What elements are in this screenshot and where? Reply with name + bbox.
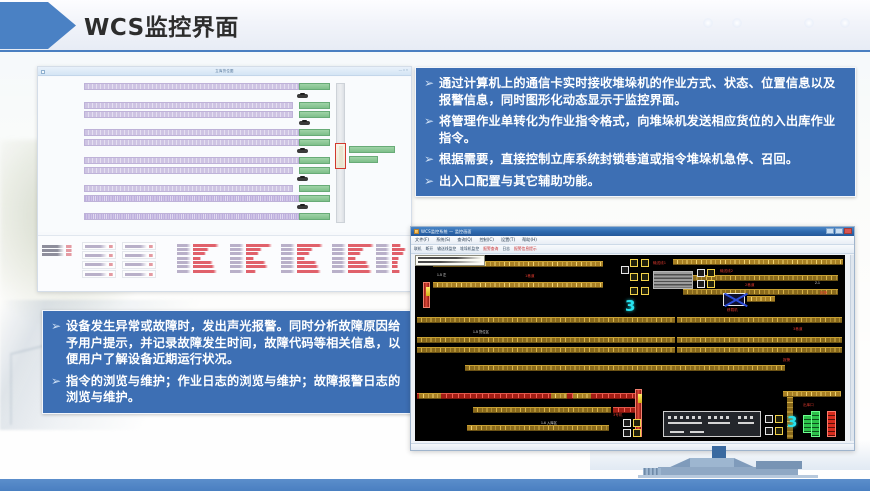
aisle-alarm — [423, 282, 430, 308]
bottom-accent-bar — [0, 479, 870, 491]
aisle-label: 1巷道 — [525, 274, 534, 279]
toolbar-button-disconnect[interactable]: 断开 — [426, 247, 434, 252]
callout-item: ➢ 出入口配置与其它辅助功能。 — [424, 173, 846, 190]
conveyor-ok-segment — [551, 393, 567, 399]
wcs-toolbar[interactable]: 联机 断开 输送线监控 堆垛机监控 报警查询 日志 报警信息提示 — [411, 245, 854, 254]
transfer-car-icon — [723, 293, 745, 306]
conveyor-segment — [299, 195, 330, 202]
detail-line — [332, 261, 374, 264]
status-line — [122, 270, 156, 278]
detail-line — [332, 244, 374, 247]
conveyor-node — [641, 273, 649, 281]
rack-row — [417, 337, 675, 343]
conveyor-ok-segment — [419, 393, 441, 399]
conveyor-segment — [349, 146, 395, 153]
rack-label: 2-1 — [815, 281, 820, 285]
rack-row — [84, 195, 299, 202]
detail-line — [376, 244, 406, 247]
conveyor-node — [630, 273, 638, 281]
conveyor-node — [697, 280, 705, 288]
wms-titlebar: 立库货位图 — □ × — [38, 67, 411, 76]
menu-item-query[interactable]: 查询(Q) — [457, 237, 472, 243]
stacker-car — [638, 394, 642, 403]
conveyor-node — [765, 415, 773, 423]
wms-window-controls[interactable]: — □ × — [399, 68, 408, 72]
wms-window-title: 立库货位图 — [215, 68, 233, 73]
status-ok-block — [803, 415, 812, 433]
tooltip-line — [418, 257, 482, 259]
detail-line — [177, 248, 219, 251]
rack-row — [417, 317, 675, 323]
detail-line — [376, 248, 406, 251]
callout-bottom: ➢ 设备发生异常或故障时，发出声光报警。同时分析故障原因给予用户提示，并记录故障… — [42, 310, 416, 414]
callout-item: ➢ 通过计算机上的通信卡实时接收堆垛机的作业方式、状态、位置信息以及报警信息，同… — [424, 75, 846, 108]
maximize-button[interactable] — [835, 228, 843, 234]
callout-item: ➢ 指令的浏览与维护；作业日志的浏览与维护；故障报警日志的浏览与维护。 — [51, 373, 406, 406]
rack-label: 1-5 左 — [437, 272, 446, 277]
status-line — [82, 251, 116, 259]
device-label: 3号机 — [613, 413, 622, 418]
status-line — [122, 261, 156, 269]
callout-text: 出入口配置与其它辅助功能。 — [439, 173, 846, 190]
detail-line — [332, 265, 374, 268]
app-icon — [414, 229, 419, 234]
wms-rack-canvas[interactable] — [38, 77, 411, 232]
status-line — [82, 242, 116, 250]
detail-line — [230, 244, 272, 247]
bullet-arrow-icon: ➢ — [424, 151, 439, 167]
conveyor-segment — [299, 157, 330, 164]
device-label: 出库口 — [803, 403, 814, 408]
rack-row — [477, 425, 609, 431]
conveyor-segment — [299, 102, 330, 109]
stacker-crane-icon — [297, 177, 308, 181]
detail-line — [376, 261, 406, 264]
detail-heading — [376, 238, 406, 242]
bullet-arrow-icon: ➢ — [424, 173, 439, 189]
bullet-arrow-icon: ➢ — [51, 318, 66, 334]
detail-heading — [230, 238, 272, 242]
toolbar-button-alarm[interactable]: 报警查询 — [483, 247, 498, 252]
callout-top: ➢ 通过计算机上的通信卡实时接收堆垛机的作业方式、状态、位置信息以及报警信息，同… — [415, 67, 856, 197]
conveyor-segment — [349, 156, 378, 163]
conveyor-ok-segment — [573, 393, 591, 399]
status-alarm-block — [827, 411, 836, 437]
stacker-crane-icon — [299, 121, 310, 125]
rack-row — [84, 157, 299, 164]
toolbar-button-connect[interactable]: 联机 — [414, 247, 422, 252]
menu-item-setting[interactable]: 设置(T) — [501, 237, 515, 243]
stacker-crane-icon — [297, 205, 308, 209]
detail-line — [332, 248, 374, 251]
detail-line — [230, 257, 272, 260]
detail-line — [177, 265, 219, 268]
rack-row — [84, 83, 299, 90]
detail-line — [376, 257, 406, 260]
rack-row — [465, 365, 785, 371]
toolbar-button-log[interactable]: 日志 — [502, 247, 510, 252]
rack-row — [683, 289, 838, 295]
callout-text: 设备发生异常或故障时，发出声光报警。同时分析故障原因给予用户提示，并记录故障发生… — [66, 318, 406, 368]
crane-number-label: 3 — [787, 415, 797, 430]
detail-line — [230, 270, 272, 273]
bullet-arrow-icon: ➢ — [424, 113, 439, 129]
wcs-menubar[interactable]: 文件(F) 系统(S) 查询(Q) 控制(C) 设置(T) 帮助(H) — [411, 236, 854, 245]
conveyor-node — [707, 269, 715, 277]
stacker-crane-icon — [297, 149, 308, 153]
rack-row — [747, 296, 775, 302]
wcs-titlebar: WCS监控系统 — 监控画面 — [411, 227, 854, 236]
toolbar-alert-text: 报警信息提示 — [514, 247, 537, 252]
chevron-arrow-icon — [0, 2, 78, 49]
conveyor-node — [641, 259, 649, 267]
detail-line — [177, 252, 219, 255]
conveyor-segment — [299, 185, 330, 192]
detail-line — [332, 270, 374, 273]
detail-line — [332, 257, 374, 260]
wms-rack-screenshot[interactable]: 立库货位图 — □ × — [37, 66, 412, 292]
detail-line — [177, 261, 219, 264]
conveyor-node — [765, 427, 773, 435]
crane-number-label: 3 — [625, 299, 635, 314]
detail-heading — [332, 238, 374, 242]
detail-line — [281, 270, 323, 273]
detail-line — [177, 244, 219, 247]
bullet-arrow-icon: ➢ — [424, 75, 439, 91]
conveyor-node — [707, 280, 715, 288]
rack-row — [84, 185, 293, 192]
wcs-window-controls[interactable] — [826, 228, 852, 234]
detail-heading — [281, 238, 323, 242]
rack-label: 1-5 货位区 — [473, 329, 489, 334]
conveyor-node — [623, 429, 631, 437]
conveyor-segment — [299, 213, 330, 220]
menu-item-help[interactable]: 帮助(H) — [522, 237, 537, 243]
sparkle-icon — [804, 18, 814, 28]
detail-line — [376, 270, 406, 273]
rack-row — [673, 259, 843, 265]
sparkle-icon — [840, 18, 850, 28]
conveyor-node — [621, 266, 629, 274]
callout-item: ➢ 将管理作业单转化为作业指令格式，向堆垛机发送相应货位的入出库作业指令。 — [424, 113, 846, 146]
conveyor-alarm-row — [417, 393, 635, 399]
rack-row — [433, 282, 603, 288]
vertical-scrollbar[interactable] — [850, 255, 854, 441]
conveyor-segment — [299, 129, 330, 136]
device-tooltip — [415, 255, 485, 266]
device-label: 移载机 — [727, 308, 738, 313]
rack-row — [84, 129, 299, 136]
aisle-label: 报警 — [783, 358, 790, 363]
rack-row — [84, 167, 293, 174]
conveyor-node — [775, 427, 783, 435]
wcs-monitor-screenshot[interactable]: WCS监控系统 — 监控画面 文件(F) 系统(S) 查询(Q) 控制(C) 设… — [410, 226, 855, 451]
device-label: 报警 — [820, 291, 827, 296]
plc-panel — [663, 411, 761, 437]
detail-line — [177, 257, 219, 260]
rack-row — [84, 213, 299, 220]
detail-line — [332, 252, 374, 255]
wcs-monitor-canvas[interactable]: 1-5 左 1巷道 2巷道 2-1 输送线1 — [415, 255, 845, 441]
window-menu-icon[interactable] — [41, 70, 45, 74]
rack-row — [417, 347, 675, 353]
status-line — [122, 242, 156, 250]
callout-text: 将管理作业单转化为作业指令格式，向堆垛机发送相应货位的入出库作业指令。 — [439, 113, 846, 146]
callout-text: 通过计算机上的通信卡实时接收堆垛机的作业方式、状态、位置信息以及报警信息，同时图… — [439, 75, 846, 108]
status-line — [42, 253, 72, 256]
callout-text: 指令的浏览与维护；作业日志的浏览与维护；故障报警日志的浏览与维护。 — [66, 373, 406, 406]
device-label: 输送线2 — [720, 269, 733, 274]
conveyor-node — [630, 259, 638, 267]
callout-item: ➢ 设备发生异常或故障时，发出声光报警。同时分析故障原因给予用户提示，并记录故障… — [51, 318, 406, 368]
menu-item-file[interactable]: 文件(F) — [415, 237, 429, 243]
conveyor-node — [633, 419, 641, 427]
detail-line — [230, 248, 272, 251]
toolbar-button-stacker[interactable]: 堆垛机监控 — [460, 247, 479, 252]
detail-line — [376, 252, 406, 255]
detail-heading — [177, 238, 219, 242]
detail-line — [177, 270, 219, 273]
alarm-highlight-box — [335, 143, 346, 169]
conveyor-node — [623, 419, 631, 427]
detail-line — [230, 252, 272, 255]
tooltip-line — [418, 261, 482, 263]
panel-heading — [42, 239, 72, 243]
detail-line — [281, 252, 323, 255]
close-icon[interactable] — [844, 228, 852, 234]
conveyor-node — [775, 415, 783, 423]
detail-line — [230, 261, 272, 264]
detail-line — [281, 265, 323, 268]
factory-graphic — [638, 446, 818, 480]
rack-row — [677, 347, 842, 353]
conveyor-segment — [299, 83, 330, 90]
conveyor-node — [633, 429, 641, 437]
minimize-button[interactable] — [826, 228, 834, 234]
rack-row — [84, 111, 293, 118]
wcs-window-title: WCS监控系统 — 监控画面 — [421, 229, 472, 235]
bullet-arrow-icon: ➢ — [51, 373, 66, 389]
status-line — [82, 270, 116, 278]
detail-line — [281, 261, 323, 264]
callout-text: 根据需要，直接控制立库系统封锁巷道或指令堆垛机急停、召回。 — [439, 151, 846, 168]
aisle-label: 2巷道 — [745, 283, 754, 288]
detail-line — [281, 244, 323, 247]
slide-header: WCS监控界面 — [0, 0, 870, 52]
status-ok-block — [811, 411, 820, 437]
wms-status-panel[interactable] — [38, 235, 411, 292]
status-line — [82, 261, 116, 269]
status-line — [42, 249, 72, 252]
callout-item: ➢ 根据需要，直接控制立库系统封锁巷道或指令堆垛机急停、召回。 — [424, 151, 846, 168]
conveyor-segment — [299, 167, 330, 174]
sparkle-icon — [703, 18, 713, 28]
rack-row — [677, 317, 842, 323]
stacker-crane-icon — [297, 94, 308, 98]
status-line — [122, 251, 156, 259]
conveyor-node — [641, 287, 649, 295]
status-line — [42, 245, 72, 248]
conveyor-segment — [299, 139, 330, 146]
menu-item-system[interactable]: 系统(S) — [436, 237, 450, 243]
conveyor-belt — [653, 271, 693, 289]
rack-row — [677, 337, 842, 343]
rack-row — [473, 407, 611, 413]
conveyor-segment — [299, 111, 330, 118]
detail-line — [281, 257, 323, 260]
detail-line — [376, 265, 406, 268]
rack-row — [84, 102, 293, 109]
device-label: 输送线1 — [653, 261, 666, 266]
aisle-label: 3巷道 — [793, 327, 802, 332]
toolbar-button-conveyor[interactable]: 输送线监控 — [437, 247, 456, 252]
conveyor-node — [697, 269, 705, 277]
menu-item-control[interactable]: 控制(C) — [479, 237, 494, 243]
sparkle-icon — [732, 18, 742, 28]
page-title: WCS监控界面 — [84, 8, 239, 42]
stacker-car — [426, 287, 430, 296]
detail-line — [230, 265, 272, 268]
conveyor-ok-segment — [467, 425, 477, 431]
slide-root: WCS监控界面 立库货位图 — □ × — [0, 0, 870, 491]
detail-line — [281, 248, 323, 251]
rack-row — [84, 139, 299, 146]
conveyor-node — [630, 287, 638, 295]
